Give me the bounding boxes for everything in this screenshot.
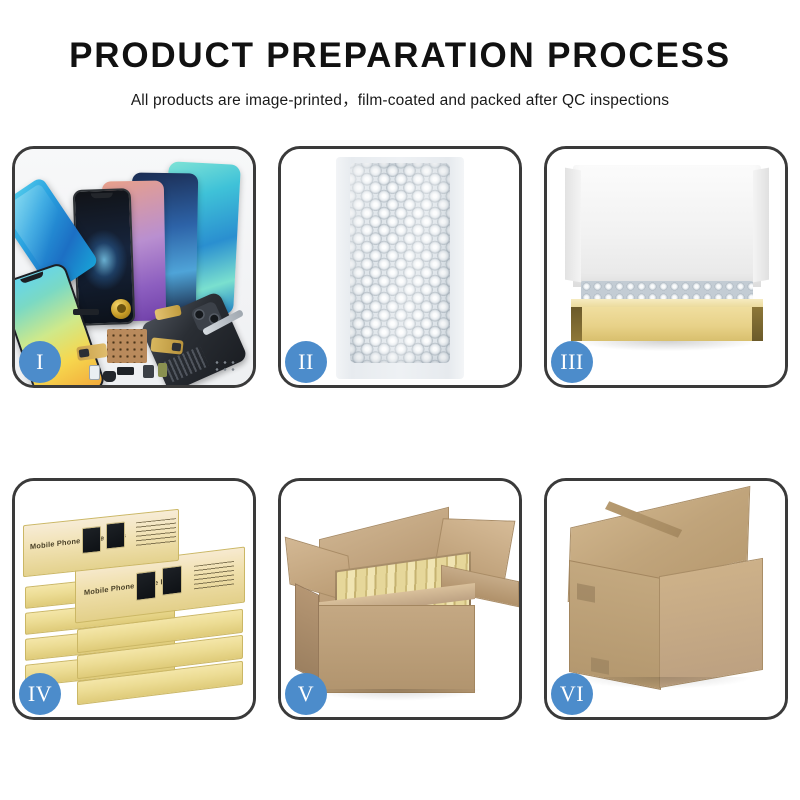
box-spec-lines [194,561,234,592]
process-step-1: I [12,146,256,388]
chip-part-a [117,367,134,375]
box-screen-graphic [136,570,156,600]
step-badge-2: II [285,341,327,383]
carton-shadow [307,689,483,701]
phone-notch-icon [20,272,44,285]
antenna-bar-part [73,309,99,315]
page-header: PRODUCT PREPARATION PROCESS All products… [0,0,800,110]
screws-part [213,359,239,373]
process-step-6: VI [544,478,788,720]
carton-front-face [569,560,661,690]
step-badge-1: I [19,341,61,383]
carton-right-face [659,558,763,688]
carton-tape-upper [577,583,595,602]
box-screen-graphic [82,526,101,554]
box-front-panel [571,307,763,341]
carton-front-face [315,605,475,693]
box-end-left [571,307,582,341]
process-grid: I II III [12,146,788,720]
step-badge-5: V [285,673,327,715]
process-step-4: Mobile Phone Spare Parts Mobile Phone Sp… [12,478,256,720]
page-subtitle: All products are image-printed，film-coat… [0,88,800,110]
speaker-part [103,371,116,382]
step-badge-4: IV [19,673,61,715]
box-shadow [577,341,757,351]
page-title: PRODUCT PREPARATION PROCESS [0,38,800,73]
sim-tray-part [89,365,100,380]
carton-side-face [295,583,319,681]
box-end-right [752,307,763,341]
box-screen-graphic [162,565,182,595]
flex-cable-left-part [76,343,108,361]
bubble-wrap-gloss [350,163,450,363]
phone-notch-icon [91,193,113,199]
process-step-2: II [278,146,522,388]
screw-mat-part [107,329,147,363]
process-step-5: V [278,478,522,720]
carton-shadow [573,677,753,689]
step-badge-6: VI [551,673,593,715]
box-spec-lines [136,518,176,548]
box-stack: Mobile Phone Spare Parts Mobile Phone Sp… [23,495,249,707]
chip-part-c [158,363,167,377]
box-screen-graphic [106,521,125,549]
step-badge-3: III [551,341,593,383]
box-lid [573,165,761,287]
process-step-3: III [544,146,788,388]
chip-part-b [143,365,154,378]
speaker-coil-part [111,299,131,319]
